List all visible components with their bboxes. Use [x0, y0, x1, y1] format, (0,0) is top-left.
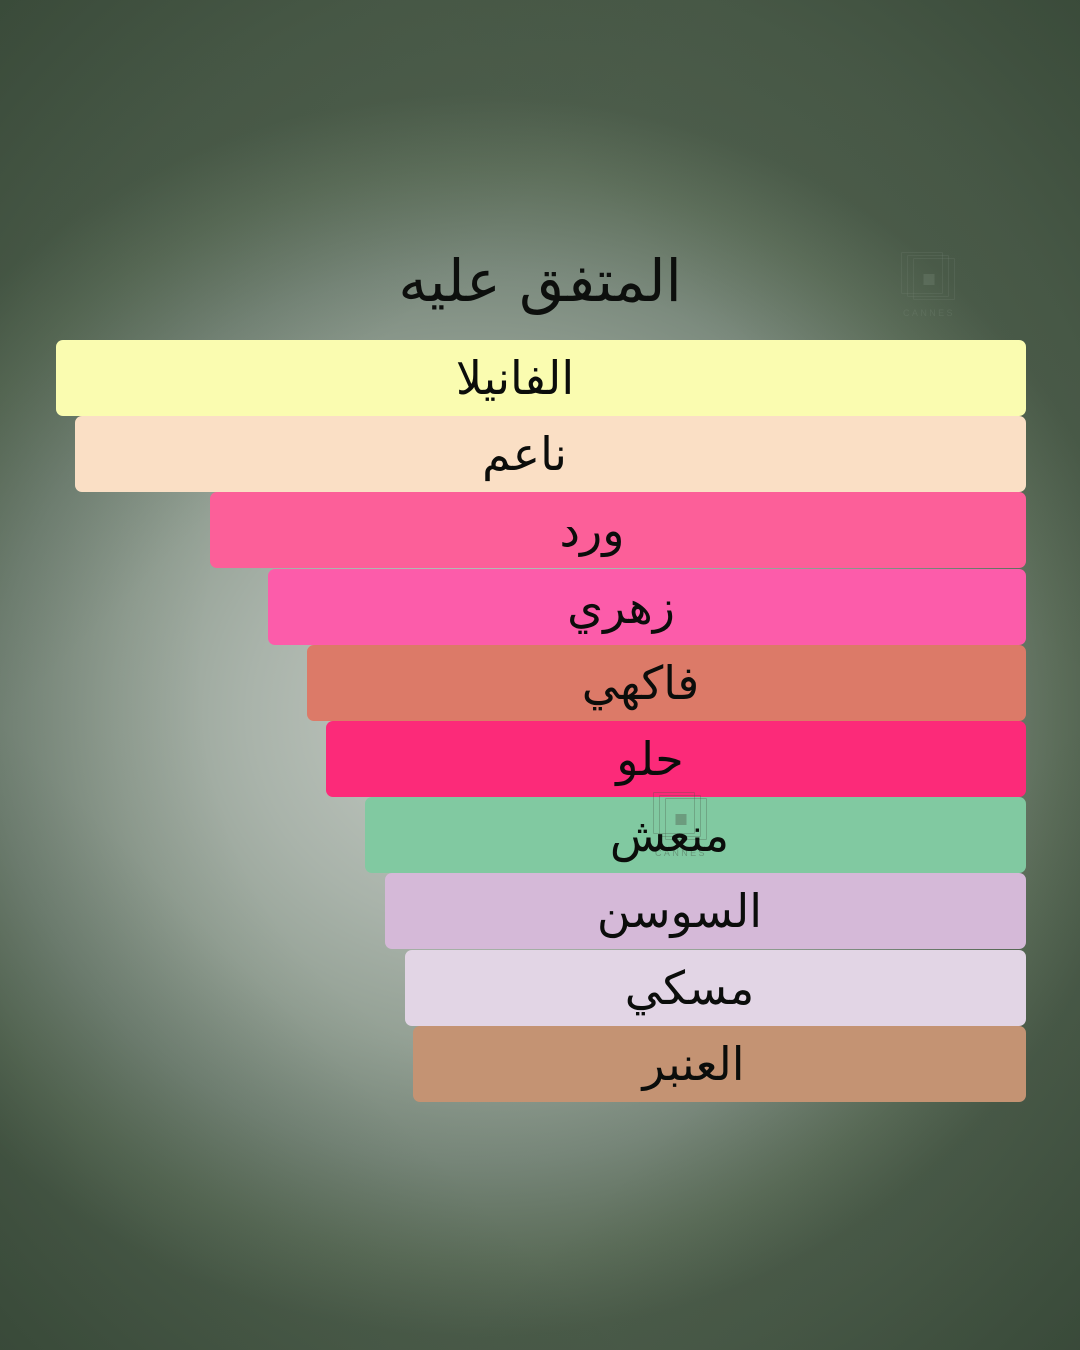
funnel-bar-label: زهري	[567, 579, 675, 635]
funnel-chart: الفانيلاناعموردزهريفاكهيحلومنعشالسوسنمسك…	[0, 340, 1080, 1100]
funnel-bar: زهري	[268, 569, 1026, 645]
funnel-bar-label: الفانيلا	[456, 350, 574, 406]
funnel-bar: العنبر	[413, 1026, 1026, 1102]
page-title: المتفق عليه	[0, 246, 1080, 316]
funnel-bar: ناعم	[75, 416, 1026, 492]
funnel-bar-label: منعش	[610, 807, 729, 863]
funnel-bar-label: ورد	[560, 502, 625, 558]
funnel-bar: منعش	[365, 797, 1026, 873]
funnel-bar-label: السوسن	[597, 883, 762, 939]
chart-canvas: المتفق عليه CANNES الفانيلاناعموردزهريفا…	[0, 0, 1080, 1350]
funnel-bar-label: مسكي	[625, 960, 754, 1016]
funnel-bar-label: فاكهي	[582, 655, 699, 711]
funnel-bar-label: العنبر	[642, 1036, 744, 1092]
funnel-bar: مسكي	[405, 950, 1026, 1026]
funnel-bar: الفانيلا	[56, 340, 1026, 416]
funnel-bar: ورد	[210, 492, 1026, 568]
funnel-bar-label: حلو	[616, 731, 683, 787]
funnel-bar-label: ناعم	[482, 426, 567, 482]
funnel-bar: حلو	[326, 721, 1026, 797]
funnel-bar: السوسن	[385, 873, 1026, 949]
funnel-bar: فاكهي	[307, 645, 1026, 721]
